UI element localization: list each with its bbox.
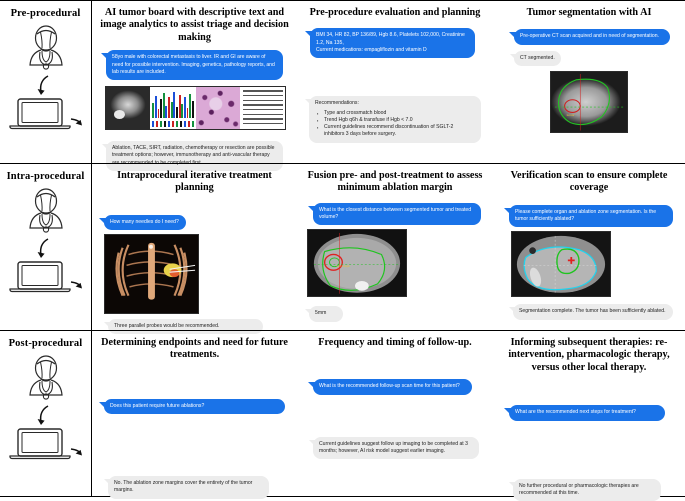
phase-column-intra-procedural: Intra-procedural <box>0 164 92 330</box>
cell-endpoints-future-treatment: Determining endpoints and need for futur… <box>92 331 297 496</box>
list-item: Trend Hgb q6h & transfuse if Hgb < 7.0 <box>324 117 475 124</box>
row-post-procedural: Post-procedural <box>0 330 685 497</box>
actor-group <box>0 355 91 461</box>
doctor-with-stethoscope-icon <box>20 355 72 405</box>
ribcage-rendering <box>105 235 198 313</box>
media-annotation-label: min margin <box>336 265 350 269</box>
laptop-icon <box>9 260 83 294</box>
row-pre-procedural: Pre-procedural <box>0 0 685 163</box>
segmentation-contours: tumor <box>551 72 627 132</box>
composite-imaging-panel <box>105 86 286 130</box>
column-title: Pre-procedure evaluation and planning <box>305 7 485 19</box>
cell-fusion-ablation-margin: Fusion pre- and post-treatment to assess… <box>297 164 493 330</box>
cell-verification-scan: Verification scan to ensure complete cov… <box>493 164 685 330</box>
phase-column-post-procedural: Post-procedural <box>0 331 92 496</box>
actor-group <box>0 188 91 294</box>
ai-recommendations-bubble: Recommendations: Type and crossmatch blo… <box>309 96 481 142</box>
doctor-with-stethoscope-icon <box>20 25 72 75</box>
ai-message-bubble: 5mm <box>309 306 343 321</box>
column-title: AI tumor board with descriptive text and… <box>100 7 289 44</box>
ai-message-bubble: CT segmented. <box>514 51 561 66</box>
column-title: Determining endpoints and need for futur… <box>100 337 289 362</box>
axial-ct-liver-panel <box>106 87 151 129</box>
curved-arrow-down-icon <box>34 75 58 97</box>
laptop-icon <box>9 427 83 461</box>
volume-rendered-ribcage-image <box>104 234 199 314</box>
ai-message-bubble: Current guidelines suggest follow up ima… <box>313 437 479 460</box>
fusion-ct-image: min margin <box>307 229 407 297</box>
user-message-bubble: 58yo male with colorectal metastasis to … <box>106 50 283 80</box>
cell-subsequent-therapies: Informing subsequent therapies: re-inter… <box>493 331 685 496</box>
user-message-bubble: Does this patient require future ablatio… <box>104 399 285 414</box>
list-item: Type and crossmatch blood <box>324 110 475 117</box>
ai-message-bubble: Segmentation complete. The tumor has bee… <box>513 304 673 319</box>
column-title: Informing subsequent therapies: re-inter… <box>501 337 677 374</box>
user-message-bubble: What are the recommended next steps for … <box>509 405 665 420</box>
dna-sequencing-chromatogram-panel <box>151 87 196 129</box>
laboratory-results-panel <box>241 87 285 129</box>
cell-pre-procedure-evaluation: Pre-procedure evaluation and planning BM… <box>297 1 493 163</box>
verification-ct-image <box>511 231 611 297</box>
phase-label: Intra-procedural <box>0 164 91 182</box>
phase-label: Post-procedural <box>0 331 91 349</box>
workflow-figure: Pre-procedural <box>0 0 685 497</box>
ai-message-bubble: No. The ablation zone margins cover the … <box>108 476 269 499</box>
segmented-ct-image: tumor <box>550 71 628 133</box>
column-title: Tumor segmentation with AI <box>501 7 677 19</box>
fusion-contours: min margin <box>308 230 406 297</box>
user-message-bubble: How many needles do I need? <box>104 215 186 230</box>
doctor-with-stethoscope-icon <box>20 188 72 238</box>
curved-arrow-down-icon <box>34 238 58 260</box>
user-message-bubble: What is the recommended follow-up scan t… <box>313 379 472 394</box>
user-message-bubble: BMI 34, HR 82, BP 136/89, Hgb 8.6, Plate… <box>310 28 475 58</box>
recommendations-list: Type and crossmatch blood Trend Hgb q6h … <box>315 110 475 139</box>
verification-contours <box>512 232 610 297</box>
phase-label: Pre-procedural <box>0 1 91 19</box>
cell-followup-frequency: Frequency and timing of follow-up. What … <box>297 331 493 496</box>
column-title: Verification scan to ensure complete cov… <box>501 170 677 195</box>
cell-tumor-segmentation: Tumor segmentation with AI Pre-operative… <box>493 1 685 163</box>
recommendations-heading: Recommendations: <box>315 100 359 106</box>
user-message-bubble: Please complete organ and ablation zone … <box>509 205 673 228</box>
row-intra-procedural: Intra-procedural <box>0 163 685 330</box>
user-message-bubble: What is the closest distance between seg… <box>313 203 481 226</box>
column-title: Fusion pre- and post-treatment to assess… <box>305 170 485 195</box>
laptop-icon <box>9 97 83 131</box>
ai-message-bubble: No further procedural or pharmacologic t… <box>513 479 661 501</box>
actor-group <box>0 25 91 131</box>
curved-arrow-down-icon <box>34 405 58 427</box>
phase-column-pre-procedural: Pre-procedural <box>0 1 92 163</box>
media-annotation-label: tumor <box>567 113 575 117</box>
list-item: Current guidelines recommend discontinua… <box>324 124 475 139</box>
column-title: Intraprocedural iterative treatment plan… <box>100 170 289 195</box>
cell-pre-tumor-board: AI tumor board with descriptive text and… <box>92 1 297 163</box>
cell-intraprocedural-planning: Intraprocedural iterative treatment plan… <box>92 164 297 330</box>
column-title: Frequency and timing of follow-up. <box>305 337 485 349</box>
histopathology-slide-panel <box>196 87 241 129</box>
user-message-bubble: Pre-operative CT scan acquired and in ne… <box>514 29 670 44</box>
